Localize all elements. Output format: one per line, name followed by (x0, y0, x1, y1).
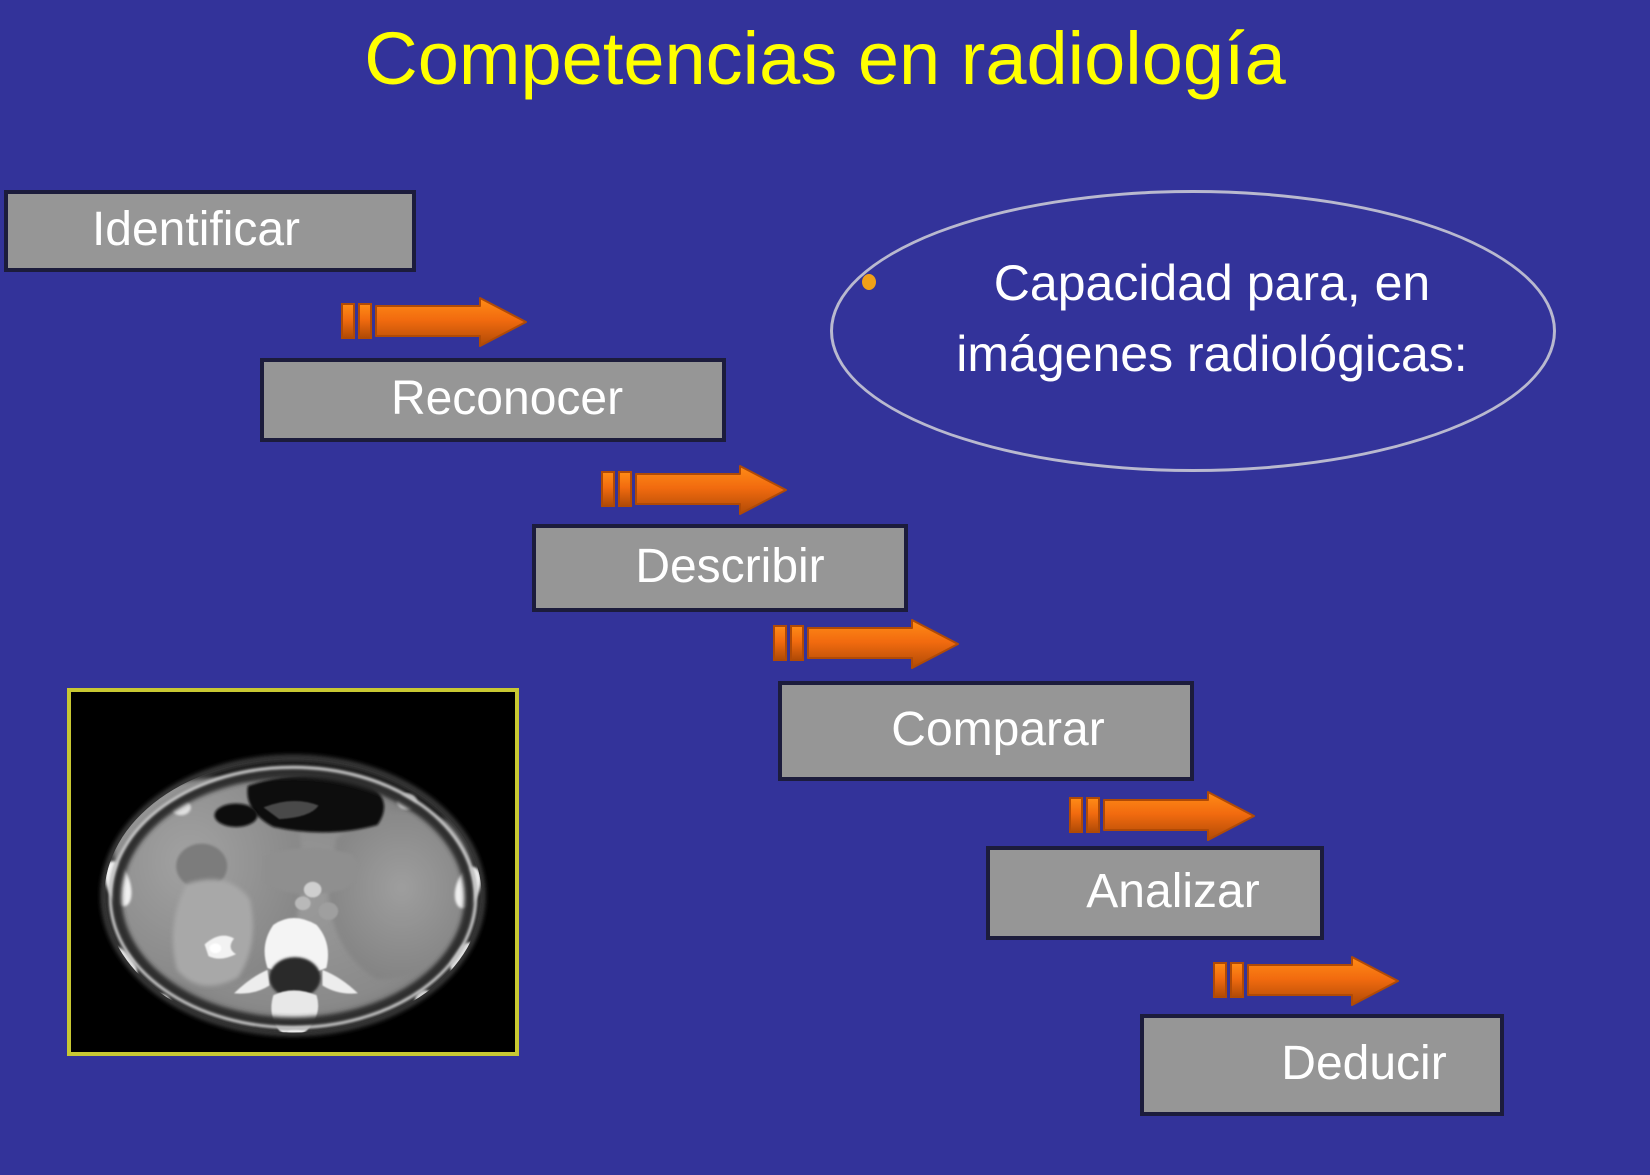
step-label-comparar: Comparar (891, 706, 1104, 756)
arrow-icon-describir-to-comparar (772, 618, 962, 670)
step-box-reconocer[interactable]: Reconocer (260, 358, 726, 442)
presentation-slide: Competencias en radiología Capacidad par… (0, 0, 1650, 1175)
step-box-identificar[interactable]: Identificar (4, 190, 416, 272)
step-label-describir: Describir (635, 543, 824, 593)
step-label-analizar: Analizar (1086, 868, 1259, 918)
step-label-identificar: Identificar (92, 206, 300, 256)
callout-text-block: Capacidad para, en imágenes radiológicas… (862, 248, 1542, 390)
slide-title: Competencias en radiología (0, 22, 1650, 96)
callout-paragraph: Capacidad para, en imágenes radiológicas… (882, 248, 1542, 390)
arrow-icon-analizar-to-deducir (1212, 955, 1402, 1007)
bullet-icon (862, 274, 876, 290)
ct-scan-image (67, 688, 519, 1056)
step-box-analizar[interactable]: Analizar (986, 846, 1324, 940)
arrow-icon-reconocer-to-describir (600, 464, 790, 516)
step-box-deducir[interactable]: Deducir (1140, 1014, 1504, 1116)
arrow-icon-identificar-to-reconocer (340, 296, 530, 348)
step-label-deducir: Deducir (1281, 1040, 1446, 1090)
callout-line-1: Capacidad para, en (882, 248, 1542, 319)
step-box-describir[interactable]: Describir (532, 524, 908, 612)
arrow-icon-comparar-to-analizar (1068, 790, 1258, 842)
callout-line-2: imágenes radiológicas: (882, 319, 1542, 390)
step-box-comparar[interactable]: Comparar (778, 681, 1194, 781)
step-label-reconocer: Reconocer (391, 375, 623, 425)
